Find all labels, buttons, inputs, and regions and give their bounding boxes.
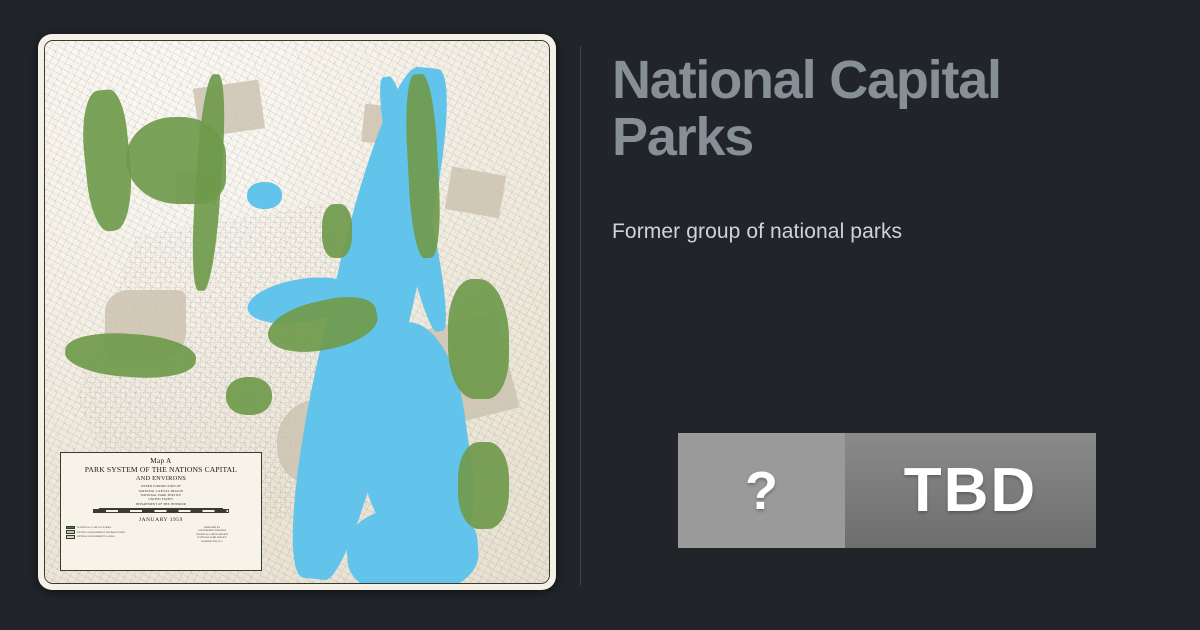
legend-title-line-2: AND ENVIRONS [66, 475, 256, 482]
tbd-question-panel: ? [678, 433, 845, 548]
legend-authority-line: DEPARTMENT OF THE INTERIOR [66, 502, 256, 506]
map-parkland [226, 377, 271, 415]
og-preview-card: Map A PARK SYSTEM OF THE NATIONS CAPITAL… [0, 0, 1200, 630]
map-parkland [458, 442, 508, 529]
legend-map-number: Map A [66, 457, 256, 465]
legend-footer: NATIONAL CAPITAL PARKS OTHER GOVERNMENT … [66, 526, 256, 544]
map-parkland [322, 204, 352, 258]
legend-key-label: OTHER GOVERNMENT LANDS [77, 535, 115, 538]
legend-key-label: OTHER GOVERNMENT RESERVATIONS [77, 531, 125, 534]
legend-scale-bar [93, 509, 230, 513]
legend-swatch-icon [66, 530, 75, 534]
map-card[interactable]: Map A PARK SYSTEM OF THE NATIONS CAPITAL… [38, 34, 556, 590]
legend-key-label: NATIONAL CAPITAL PARKS [77, 526, 111, 529]
page-subtitle: Former group of national parks [612, 220, 1152, 244]
tbd-badge[interactable]: ? TBD [678, 433, 1096, 548]
legend-credit: PREPARED BY ENGINEERING DIVISION NATIONA… [169, 526, 256, 544]
map-image: Map A PARK SYSTEM OF THE NATIONS CAPITAL… [44, 40, 550, 584]
legend-credit-line: WASHINGTON, D.C. [169, 540, 256, 544]
map-urban-block [445, 167, 507, 219]
legend-date: JANUARY 1959 [66, 517, 256, 523]
media-pane: Map A PARK SYSTEM OF THE NATIONS CAPITAL… [0, 0, 580, 630]
tbd-label-text: TBD [904, 460, 1037, 522]
map-parkland [448, 279, 508, 398]
question-mark-icon: ? [745, 464, 778, 518]
page-title: National Capital Parks [612, 52, 1152, 166]
pane-divider [580, 46, 581, 585]
legend-key-item: OTHER GOVERNMENT LANDS [66, 535, 153, 539]
map-legend-cartouche: Map A PARK SYSTEM OF THE NATIONS CAPITAL… [60, 452, 262, 571]
legend-swatch-icon [66, 526, 75, 530]
text-pane: National Capital Parks Former group of n… [612, 0, 1200, 630]
tbd-label-panel: TBD [845, 433, 1096, 548]
map-reservoir [247, 182, 282, 209]
legend-key-item: OTHER GOVERNMENT RESERVATIONS [66, 530, 153, 534]
legend-authority: UNDER JURISDICTION OF NATIONAL CAPITAL R… [66, 484, 256, 506]
legend-swatch-icon [66, 535, 75, 539]
legend-key-list: NATIONAL CAPITAL PARKS OTHER GOVERNMENT … [66, 526, 153, 540]
legend-scale-rule [99, 508, 223, 511]
legend-key-item: NATIONAL CAPITAL PARKS [66, 526, 153, 530]
legend-title-line-1: PARK SYSTEM OF THE NATIONS CAPITAL [66, 466, 256, 475]
